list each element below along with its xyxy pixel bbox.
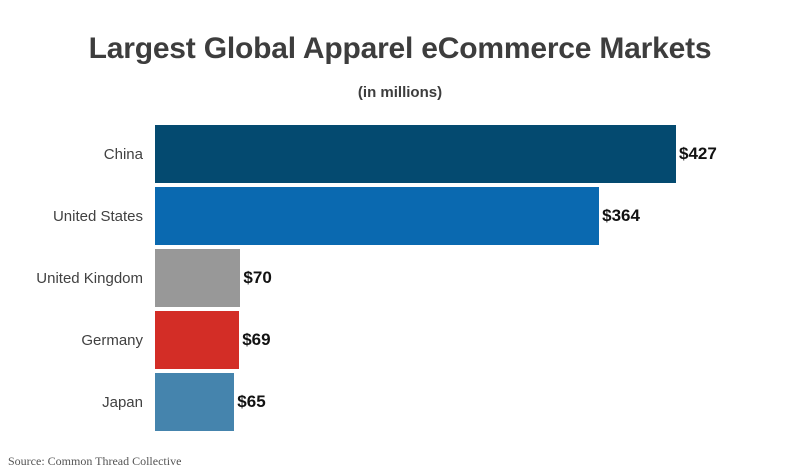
plot-area: China $427 United States $364 United Kin… (0, 125, 800, 428)
bar-value-japan: $65 (234, 373, 265, 431)
bar-united-states[interactable] (155, 187, 599, 245)
bar-row: United States $364 (0, 187, 800, 245)
source-note: Source: Common Thread Collective (8, 454, 181, 469)
chart-subtitle: (in millions) (0, 84, 800, 101)
bar-china[interactable] (155, 125, 676, 183)
bar-value-united-kingdom: $70 (240, 249, 271, 307)
bar-row: United Kingdom $70 (0, 249, 800, 307)
category-label-united-states: United States (0, 187, 143, 245)
bar-row: Japan $65 (0, 373, 800, 431)
category-label-germany: Germany (0, 311, 143, 369)
bar-value-china: $427 (676, 125, 717, 183)
chart-title: Largest Global Apparel eCommerce Markets (0, 32, 800, 66)
category-label-united-kingdom: United Kingdom (0, 249, 143, 307)
bar-germany[interactable] (155, 311, 239, 369)
category-label-japan: Japan (0, 373, 143, 431)
chart-container: Largest Global Apparel eCommerce Markets… (0, 0, 800, 473)
category-label-china: China (0, 125, 143, 183)
bar-united-kingdom[interactable] (155, 249, 240, 307)
bar-row: Germany $69 (0, 311, 800, 369)
bar-row: China $427 (0, 125, 800, 183)
bar-japan[interactable] (155, 373, 234, 431)
bar-value-united-states: $364 (599, 187, 640, 245)
bar-value-germany: $69 (239, 311, 270, 369)
